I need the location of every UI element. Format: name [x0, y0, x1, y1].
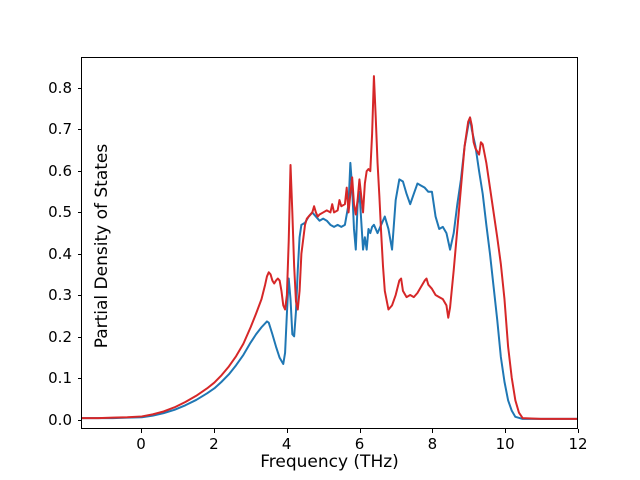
x-tick-mark	[432, 429, 433, 433]
figure-canvas: Partial Density of States Frequency (THz…	[0, 0, 640, 480]
data-line-series-1	[82, 117, 577, 418]
x-tick-mark	[360, 429, 361, 433]
x-tick-label: 10	[485, 435, 525, 453]
y-tick-label: 0.1	[0, 371, 72, 386]
y-tick-label: 0.0	[0, 413, 72, 428]
x-tick-label: 8	[412, 435, 452, 453]
x-tick-label: 4	[267, 435, 307, 453]
x-axis-label: Frequency (THz)	[81, 452, 578, 472]
y-tick-label: 0.8	[0, 81, 72, 96]
y-tick-label: 0.2	[0, 330, 72, 345]
y-tick-label: 0.5	[0, 205, 72, 220]
x-tick-mark	[578, 429, 579, 433]
x-tick-mark	[141, 429, 142, 433]
y-tick-label: 0.6	[0, 164, 72, 179]
plot-lines	[82, 58, 577, 428]
x-tick-label: 0	[121, 435, 161, 453]
x-tick-mark	[214, 429, 215, 433]
x-tick-mark	[287, 429, 288, 433]
x-tick-label: 2	[194, 435, 234, 453]
x-tick-mark	[505, 429, 506, 433]
x-tick-label: 6	[340, 435, 380, 453]
y-tick-label: 0.3	[0, 288, 72, 303]
y-tick-label: 0.7	[0, 122, 72, 137]
x-tick-label: 12	[558, 435, 598, 453]
y-tick-label: 0.4	[0, 247, 72, 262]
plot-frame	[81, 57, 578, 429]
